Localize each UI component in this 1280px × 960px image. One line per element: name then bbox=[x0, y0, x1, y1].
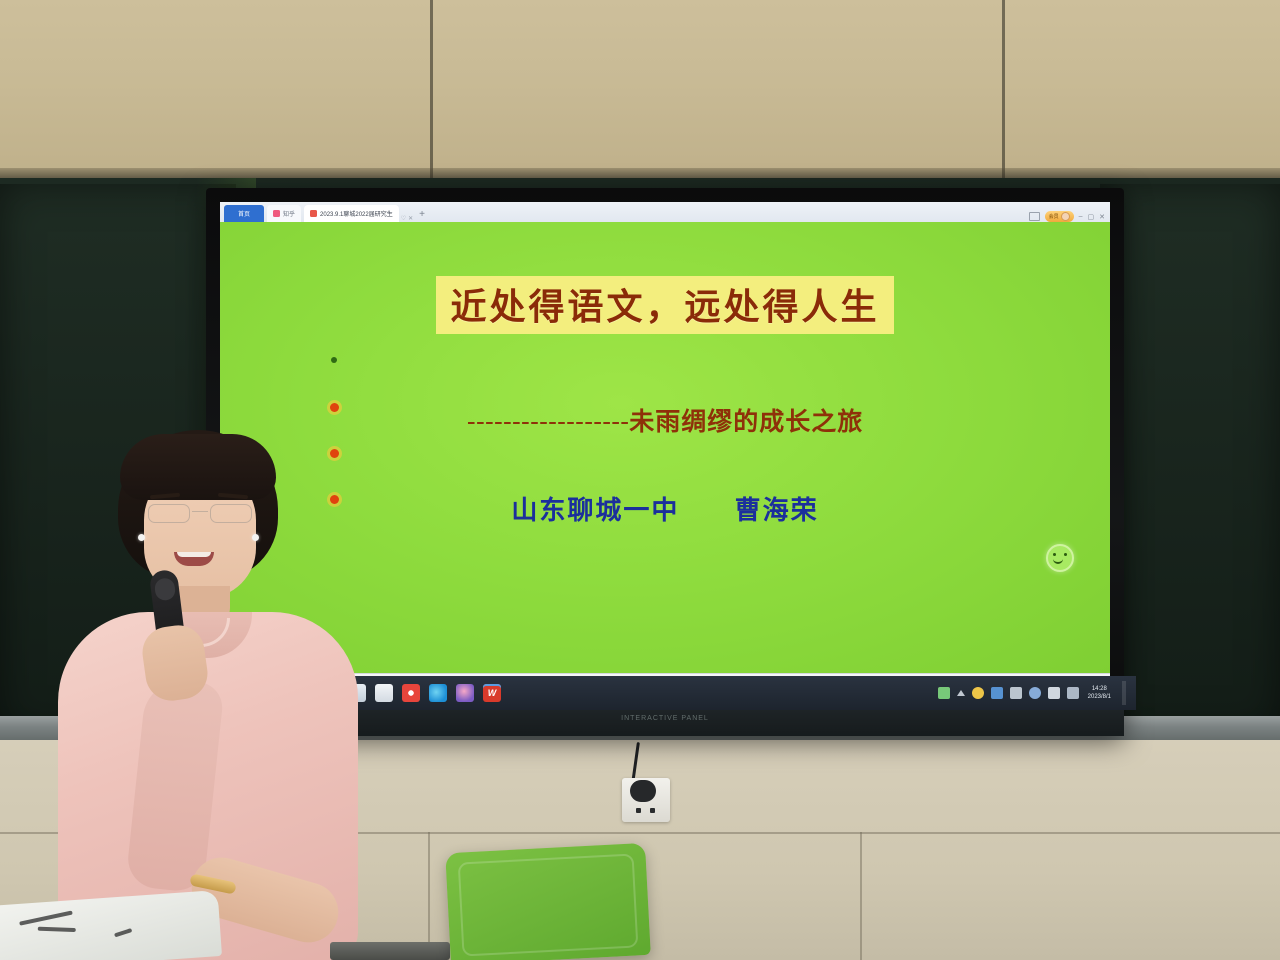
wall-seam bbox=[430, 0, 433, 182]
clock-date: 2023/8/1 bbox=[1088, 694, 1111, 700]
outlet-hole bbox=[650, 808, 655, 813]
power-plug bbox=[630, 780, 656, 802]
display-brand: INTERACTIVE PANEL bbox=[621, 715, 709, 722]
bullet-point bbox=[331, 357, 337, 363]
taskbar-clock[interactable]: 14:28 2023/8/1 bbox=[1088, 685, 1111, 701]
show-desktop-button[interactable] bbox=[1122, 681, 1126, 705]
browser-tabstrip: 首页 知乎 2023.9.1聊城2022届研究生 ♡ ✕ + 会员 bbox=[220, 202, 1110, 222]
close-icon[interactable]: ✕ bbox=[408, 215, 413, 222]
new-tab-button[interactable]: + bbox=[419, 208, 425, 222]
show-hidden-icons[interactable] bbox=[957, 690, 965, 696]
speaker-icon[interactable]: ♡ bbox=[401, 215, 406, 222]
smiley-mouth bbox=[1053, 557, 1063, 564]
green-chair bbox=[445, 843, 651, 960]
avatar bbox=[1061, 212, 1070, 221]
battery-icon[interactable] bbox=[938, 687, 950, 699]
presenter-woman bbox=[40, 430, 370, 960]
shield-icon[interactable] bbox=[972, 687, 984, 699]
wall-power-outlet[interactable] bbox=[622, 778, 670, 822]
keyboard-icon[interactable] bbox=[1029, 687, 1041, 699]
restore-icon[interactable] bbox=[1029, 212, 1040, 221]
wps-office-icon[interactable]: W bbox=[483, 684, 501, 702]
smiley-eye bbox=[1053, 553, 1056, 556]
browser-tab-active[interactable]: 2023.9.1聊城2022届研究生 bbox=[304, 205, 399, 222]
wall-tile-line bbox=[860, 832, 862, 960]
wall-tile-line bbox=[428, 832, 430, 960]
network-icon[interactable] bbox=[991, 687, 1003, 699]
ime-icon[interactable] bbox=[1048, 687, 1060, 699]
favicon-icon bbox=[273, 210, 280, 217]
slide-title: 近处得语文，远处得人生 bbox=[436, 276, 893, 334]
bag-marking bbox=[38, 927, 76, 932]
window-controls: 会员 – ▢ ✕ bbox=[1029, 211, 1110, 222]
smiley-eye bbox=[1064, 553, 1067, 556]
edge-icon[interactable] bbox=[429, 684, 447, 702]
blackboard-panel-right bbox=[1100, 184, 1280, 732]
slide-subtitle-dashes: ------------------ bbox=[467, 407, 629, 436]
presenter-name: 曹海荣 bbox=[735, 496, 819, 526]
bag-marking bbox=[19, 911, 73, 926]
slide-subtitle-text: 未雨绸缪的成长之旅 bbox=[629, 407, 863, 436]
outlet-hole bbox=[636, 808, 641, 813]
browser-home-tab[interactable]: 首页 bbox=[224, 205, 264, 222]
earring bbox=[252, 534, 259, 541]
earring bbox=[138, 534, 145, 541]
glasses-icon bbox=[144, 504, 256, 522]
browser-tab[interactable]: 知乎 bbox=[267, 205, 301, 222]
system-tray: 14:28 2023/8/1 bbox=[938, 681, 1130, 705]
maximize-button[interactable]: ▢ bbox=[1088, 213, 1095, 221]
sound-icon[interactable] bbox=[1010, 687, 1022, 699]
wall-seam bbox=[1002, 0, 1005, 182]
language-icon[interactable] bbox=[1067, 687, 1079, 699]
classroom-scene: 首页 知乎 2023.9.1聊城2022届研究生 ♡ ✕ + 会员 bbox=[0, 0, 1280, 960]
smiley-face-icon bbox=[1046, 544, 1074, 572]
close-button[interactable]: ✕ bbox=[1099, 213, 1105, 221]
bag-marking bbox=[114, 928, 132, 937]
vip-badge[interactable]: 会员 bbox=[1045, 211, 1074, 222]
browser-tab-title: 知乎 bbox=[283, 209, 295, 218]
chrome-icon[interactable] bbox=[402, 684, 420, 702]
slide-title-container: 近处得语文，远处得人生 bbox=[220, 276, 1110, 334]
desk-edge bbox=[330, 942, 450, 960]
glasses-lens bbox=[210, 504, 252, 523]
media-app-icon[interactable] bbox=[456, 684, 474, 702]
glasses-lens bbox=[148, 504, 190, 523]
browser-tab-title: 2023.9.1聊城2022届研究生 bbox=[320, 209, 393, 218]
hair-fringe bbox=[120, 434, 276, 500]
upper-wall-panels bbox=[0, 0, 1280, 182]
presenter-org: 山东聊城一中 bbox=[511, 496, 679, 526]
minimize-button[interactable]: – bbox=[1079, 213, 1083, 220]
microphone-grill bbox=[154, 577, 177, 601]
clock-time: 14:28 bbox=[1092, 686, 1107, 692]
vip-label: 会员 bbox=[1049, 213, 1059, 220]
mail-icon[interactable] bbox=[375, 684, 393, 702]
favicon-icon bbox=[310, 210, 317, 217]
glasses-bridge bbox=[192, 511, 208, 512]
